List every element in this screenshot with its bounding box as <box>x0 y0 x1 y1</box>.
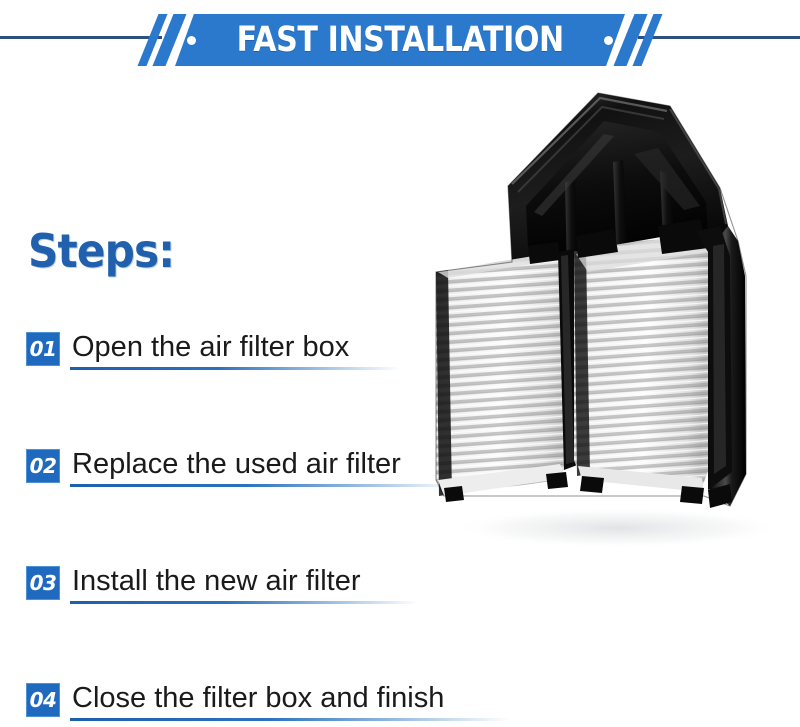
banner-dot-left-icon <box>187 36 196 45</box>
product-shadow <box>453 508 783 548</box>
step-underline <box>70 718 510 721</box>
step-number-label: 01 <box>30 339 57 359</box>
step-number-label: 02 <box>30 456 57 476</box>
filter-media-panel-right <box>574 231 710 492</box>
step-number-badge: 02 <box>26 449 60 483</box>
header-banner: FAST INSTALLATION <box>0 0 800 84</box>
banner-rule-left <box>0 36 162 39</box>
step-text: Close the filter box and finish <box>70 679 510 717</box>
step-underline <box>70 367 400 370</box>
banner-title: FAST INSTALLATION <box>236 23 563 58</box>
step-number-badge: 01 <box>26 332 60 366</box>
banner-content: FAST INSTALLATION <box>175 14 625 66</box>
filter-media-panel-left <box>436 252 568 496</box>
banner-dot-right-icon <box>604 36 613 45</box>
step-underline <box>70 484 460 487</box>
steps-heading: Steps: <box>28 228 174 274</box>
banner-rule-right <box>638 36 800 39</box>
air-filter-product-image <box>408 76 800 562</box>
filter-foot-2 <box>546 472 568 489</box>
step-item-04: 04 Close the filter box and finish <box>26 679 546 727</box>
step-number-label: 03 <box>30 573 57 593</box>
filter-right-inner-wall-gloss <box>713 244 726 474</box>
step-text: Replace the used air filter <box>70 445 460 483</box>
filter-foot-3 <box>580 476 604 493</box>
filter-foot-4 <box>680 486 704 504</box>
step-item-03: 03 Install the new air filter <box>26 562 546 679</box>
step-underline <box>70 601 418 604</box>
step-number-badge: 04 <box>26 683 60 717</box>
infographic-page: FAST INSTALLATION Steps: 01 Open the air… <box>0 0 800 727</box>
step-text: Open the air filter box <box>70 328 400 366</box>
step-number-badge: 03 <box>26 566 60 600</box>
step-text: Install the new air filter <box>70 562 418 600</box>
step-number-label: 04 <box>30 690 57 710</box>
filter-foot-1 <box>444 486 464 502</box>
